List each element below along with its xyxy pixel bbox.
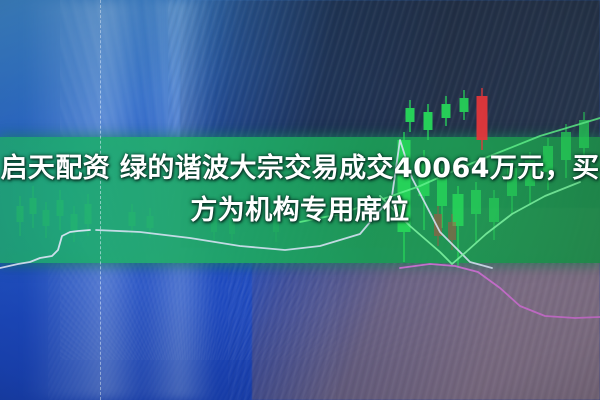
news-banner: 启天配资 绿的谐波大宗交易成交40064万元，买 方为机构专用席位 (0, 0, 600, 400)
headline-line-1: 启天配资 绿的谐波大宗交易成交40064万元，买 (0, 148, 600, 190)
headline-text: 启天配资 绿的谐波大宗交易成交40064万元，买 方为机构专用席位 (0, 148, 600, 232)
headline-line-2: 方为机构专用席位 (0, 190, 600, 232)
